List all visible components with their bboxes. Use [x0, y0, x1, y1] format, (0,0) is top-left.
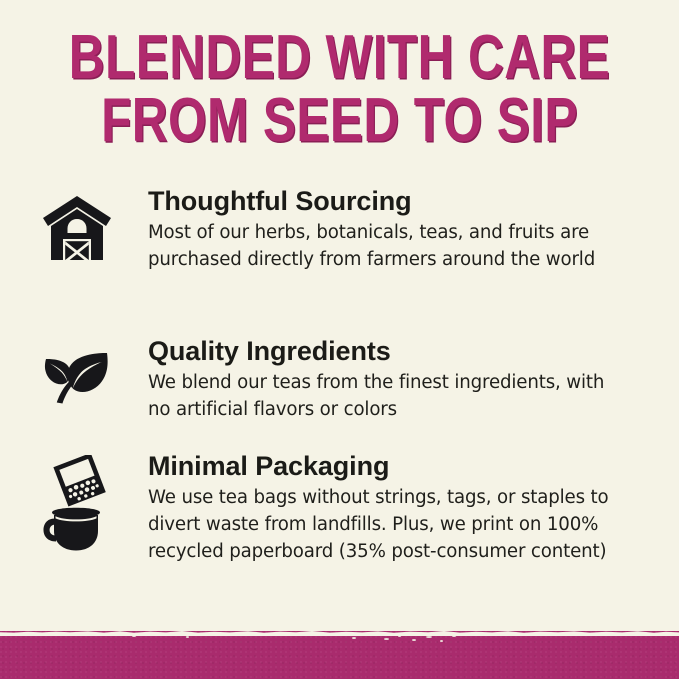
band-speck	[148, 634, 150, 636]
feature-heading: Minimal Packaging	[148, 451, 631, 482]
band-speck	[426, 636, 432, 638]
band-speck	[96, 633, 99, 635]
feature-item-quality-ingredients: Quality Ingredients We blend our teas fr…	[0, 336, 679, 451]
feature-body: We use tea bags without strings, tags, o…	[148, 484, 631, 565]
feature-heading: Quality Ingredients	[148, 336, 631, 367]
band-speck	[368, 634, 371, 636]
feature-heading: Thoughtful Sourcing	[148, 186, 631, 217]
leaf-sprout-icon	[36, 336, 118, 406]
band-speck	[352, 637, 356, 639]
feature-item-thoughtful-sourcing: Thoughtful Sourcing Most of our herbs, b…	[0, 186, 679, 336]
band-speck	[440, 640, 443, 642]
teabag-mug-icon	[36, 451, 118, 555]
feature-text: Quality Ingredients We blend our teas fr…	[118, 336, 679, 423]
feature-body: Most of our herbs, botanicals, teas, and…	[148, 219, 631, 273]
page-title-line-1: Blended With Care	[68, 26, 611, 89]
promo-panel: Blended With Care From Seed To Sip	[0, 0, 679, 679]
band-speck	[398, 635, 401, 637]
feature-list: Thoughtful Sourcing Most of our herbs, b…	[0, 186, 679, 601]
feature-item-minimal-packaging: Minimal Packaging We use tea bags withou…	[0, 451, 679, 601]
band-halftone-texture	[0, 631, 679, 679]
band-distressed-edge	[0, 631, 679, 636]
page-title-line-2: From Seed To Sip	[68, 89, 611, 152]
band-speck	[132, 635, 136, 637]
band-speck	[452, 635, 456, 637]
band-speck	[412, 639, 416, 641]
feature-body: We blend our teas from the finest ingred…	[148, 369, 631, 423]
barn-icon	[36, 186, 118, 263]
band-speck	[384, 638, 389, 640]
page-title: Blended With Care From Seed To Sip	[0, 26, 679, 152]
feature-text: Thoughtful Sourcing Most of our herbs, b…	[118, 186, 679, 273]
feature-text: Minimal Packaging We use tea bags withou…	[118, 451, 679, 565]
band-speck	[186, 636, 189, 638]
bottom-color-band	[0, 631, 679, 679]
band-speck	[310, 634, 313, 636]
